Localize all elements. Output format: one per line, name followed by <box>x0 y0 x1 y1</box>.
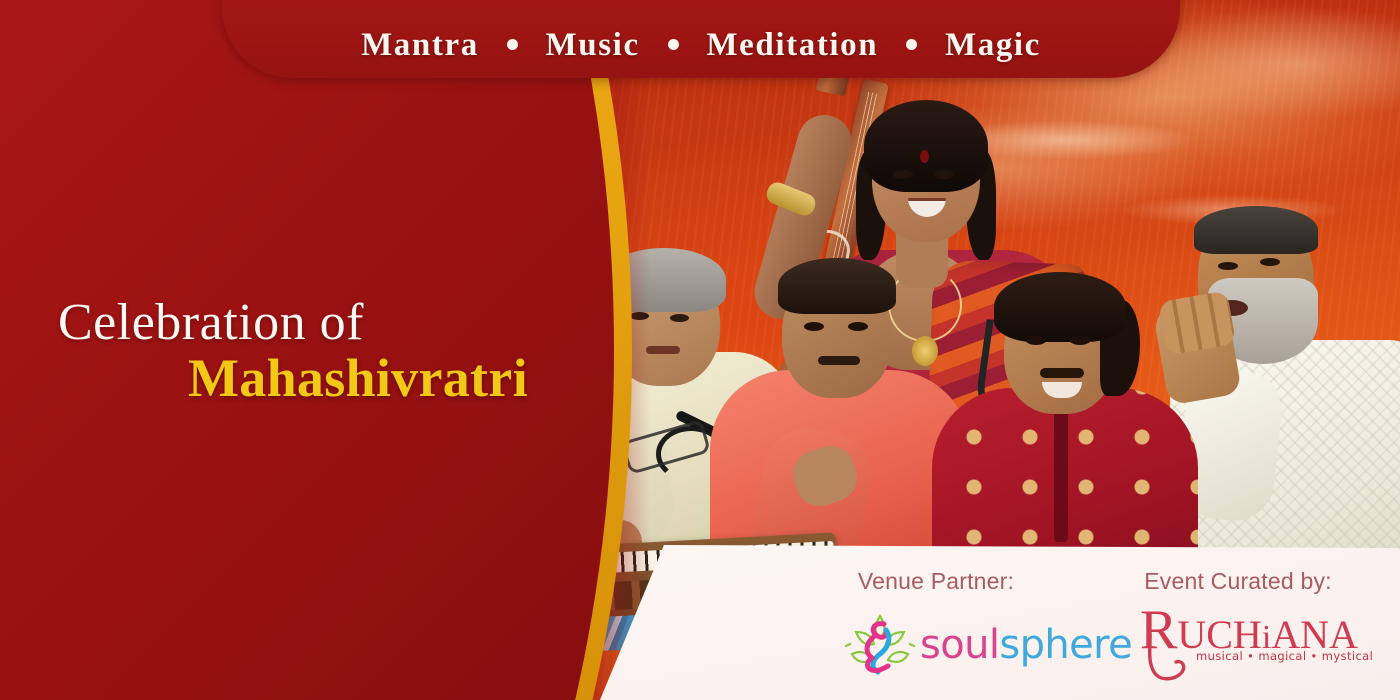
tagline-item-magic: Magic <box>945 27 1041 63</box>
title-line-2: Mahashivratri <box>188 349 578 407</box>
performer-singer-eye-left <box>1218 262 1238 270</box>
tagline-text: Mantra Music Meditation Magic <box>222 27 1180 64</box>
performer-woman-hair <box>864 100 988 192</box>
bullet-separator-icon <box>668 39 679 50</box>
tagline-item-music: Music <box>546 27 640 63</box>
venue-partner-label: Venue Partner: <box>836 568 1036 595</box>
tagline-banner: Mantra Music Meditation Magic <box>222 0 1180 78</box>
event-curator-block: Event Curated by: <box>1128 568 1348 595</box>
event-curated-by-label: Event Curated by: <box>1128 568 1348 595</box>
soulsphere-wordmark: soulsphere <box>920 622 1132 668</box>
performer-woman-pendant <box>912 336 938 366</box>
performer-tabla-placket <box>1054 392 1068 542</box>
performer-elder-mouth <box>646 346 680 354</box>
performer-salmon-eye-left <box>804 322 824 331</box>
venue-partner-block: Venue Partner: <box>836 568 1036 595</box>
tagline-item-meditation: Meditation <box>706 27 878 63</box>
ruchiana-tagline: musical • magical • mystical <box>1196 649 1373 663</box>
performer-singer-hair <box>1194 206 1318 254</box>
performer-tabla-hair <box>994 272 1126 342</box>
ruchiana-logo[interactable]: RUCHiANA musical • magical • mystical <box>1140 602 1370 684</box>
title-line-1: Celebration of <box>58 296 578 349</box>
page-title: Celebration of Mahashivratri <box>58 296 578 407</box>
performer-salmon-moustache <box>818 356 860 365</box>
performer-salmon-hair <box>778 258 896 314</box>
performer-woman-eye-left <box>893 170 913 179</box>
performer-tabla-moustache <box>1040 368 1084 378</box>
bullet-separator-icon <box>906 39 917 50</box>
performer-tabla-eye-right <box>1070 336 1090 345</box>
bullet-separator-icon <box>507 39 518 50</box>
soulsphere-word-soul: soul <box>920 622 999 668</box>
lotus-swirl-icon <box>844 610 916 682</box>
performer-singer-eye-right <box>1260 258 1280 266</box>
soulsphere-word-sphere: sphere <box>999 622 1132 668</box>
performer-woman-bindi <box>920 150 929 163</box>
event-banner-poster: Celebration of Mahashivratri Mantra Musi… <box>0 0 1400 700</box>
performer-woman-eye-right <box>934 170 954 179</box>
performer-tabla-eye-left <box>1026 336 1046 345</box>
soulsphere-logo[interactable]: soulsphere <box>836 606 1098 684</box>
performer-salmon-eye-right <box>848 322 868 331</box>
tagline-item-mantra: Mantra <box>361 27 479 63</box>
performer-elder-eye-right <box>670 314 689 322</box>
